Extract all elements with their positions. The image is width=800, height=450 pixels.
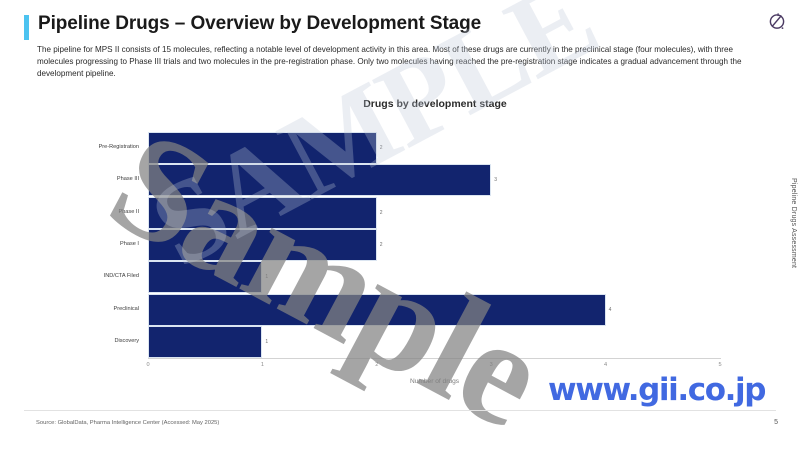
chart-bar-row: 2 <box>148 132 720 164</box>
chart-bar <box>148 197 377 229</box>
chart-category-label: IND/CTA Filed <box>60 273 144 279</box>
chart-category-label: Phase I <box>60 241 144 247</box>
chart-category-label: Pre-Registration <box>60 144 144 150</box>
x-axis-tick-label: 3 <box>490 362 493 368</box>
x-axis-tick-label: 4 <box>604 362 607 368</box>
chart-bar-value: 1 <box>265 274 268 280</box>
chart-bar-value: 1 <box>265 339 268 345</box>
chart-bar-value: 4 <box>609 307 612 313</box>
chart-bar-row: 1 <box>148 326 720 358</box>
chart-bar <box>148 132 377 164</box>
chart-bar-value: 2 <box>380 145 383 151</box>
page-title: Pipeline Drugs – Overview by Development… <box>38 13 481 35</box>
chart-bar-value: 2 <box>380 210 383 216</box>
page-number: 5 <box>774 419 778 426</box>
chart-bar-value: 3 <box>494 177 497 183</box>
x-axis-tick-label: 2 <box>375 362 378 368</box>
chart-bar <box>148 164 491 196</box>
chart-bar-value: 2 <box>380 242 383 248</box>
x-axis-tick-label: 0 <box>146 362 149 368</box>
chart-bar-row: 4 <box>148 294 720 326</box>
section-side-label: Pipeline Drugs Assessment <box>790 178 797 268</box>
footer-divider <box>24 410 776 411</box>
x-axis-tick-label: 1 <box>261 362 264 368</box>
drugs-by-stage-chart: Drugs by development stage 2322141 Numbe… <box>60 98 740 398</box>
chart-category-label: Preclinical <box>60 306 144 312</box>
chart-bar-row: 2 <box>148 229 720 261</box>
chart-bar-row: 1 <box>148 261 720 293</box>
chart-category-label: Discovery <box>60 338 144 344</box>
chart-plot-area: 2322141 <box>148 132 720 358</box>
chart-bar <box>148 294 606 326</box>
source-note: Source: GlobalData, Pharma Intelligence … <box>36 420 219 426</box>
chart-bar-row: 3 <box>148 164 720 196</box>
chart-bar <box>148 326 262 358</box>
slide-canvas: Pipeline Drugs – Overview by Development… <box>0 0 800 450</box>
chart-category-label: Phase II <box>60 209 144 215</box>
x-axis-line <box>148 358 721 359</box>
chart-bar <box>148 229 377 261</box>
globe-slash-logo-icon <box>766 10 788 32</box>
site-url-watermark: www.gii.co.jp <box>548 372 765 408</box>
title-accent-bar <box>24 15 29 40</box>
chart-category-label: Phase III <box>60 176 144 182</box>
chart-title: Drugs by development stage <box>60 98 740 110</box>
chart-bar <box>148 261 262 293</box>
chart-bar-row: 2 <box>148 197 720 229</box>
overview-paragraph: The pipeline for MPS II consists of 15 m… <box>37 44 757 80</box>
x-axis-tick-label: 5 <box>718 362 721 368</box>
